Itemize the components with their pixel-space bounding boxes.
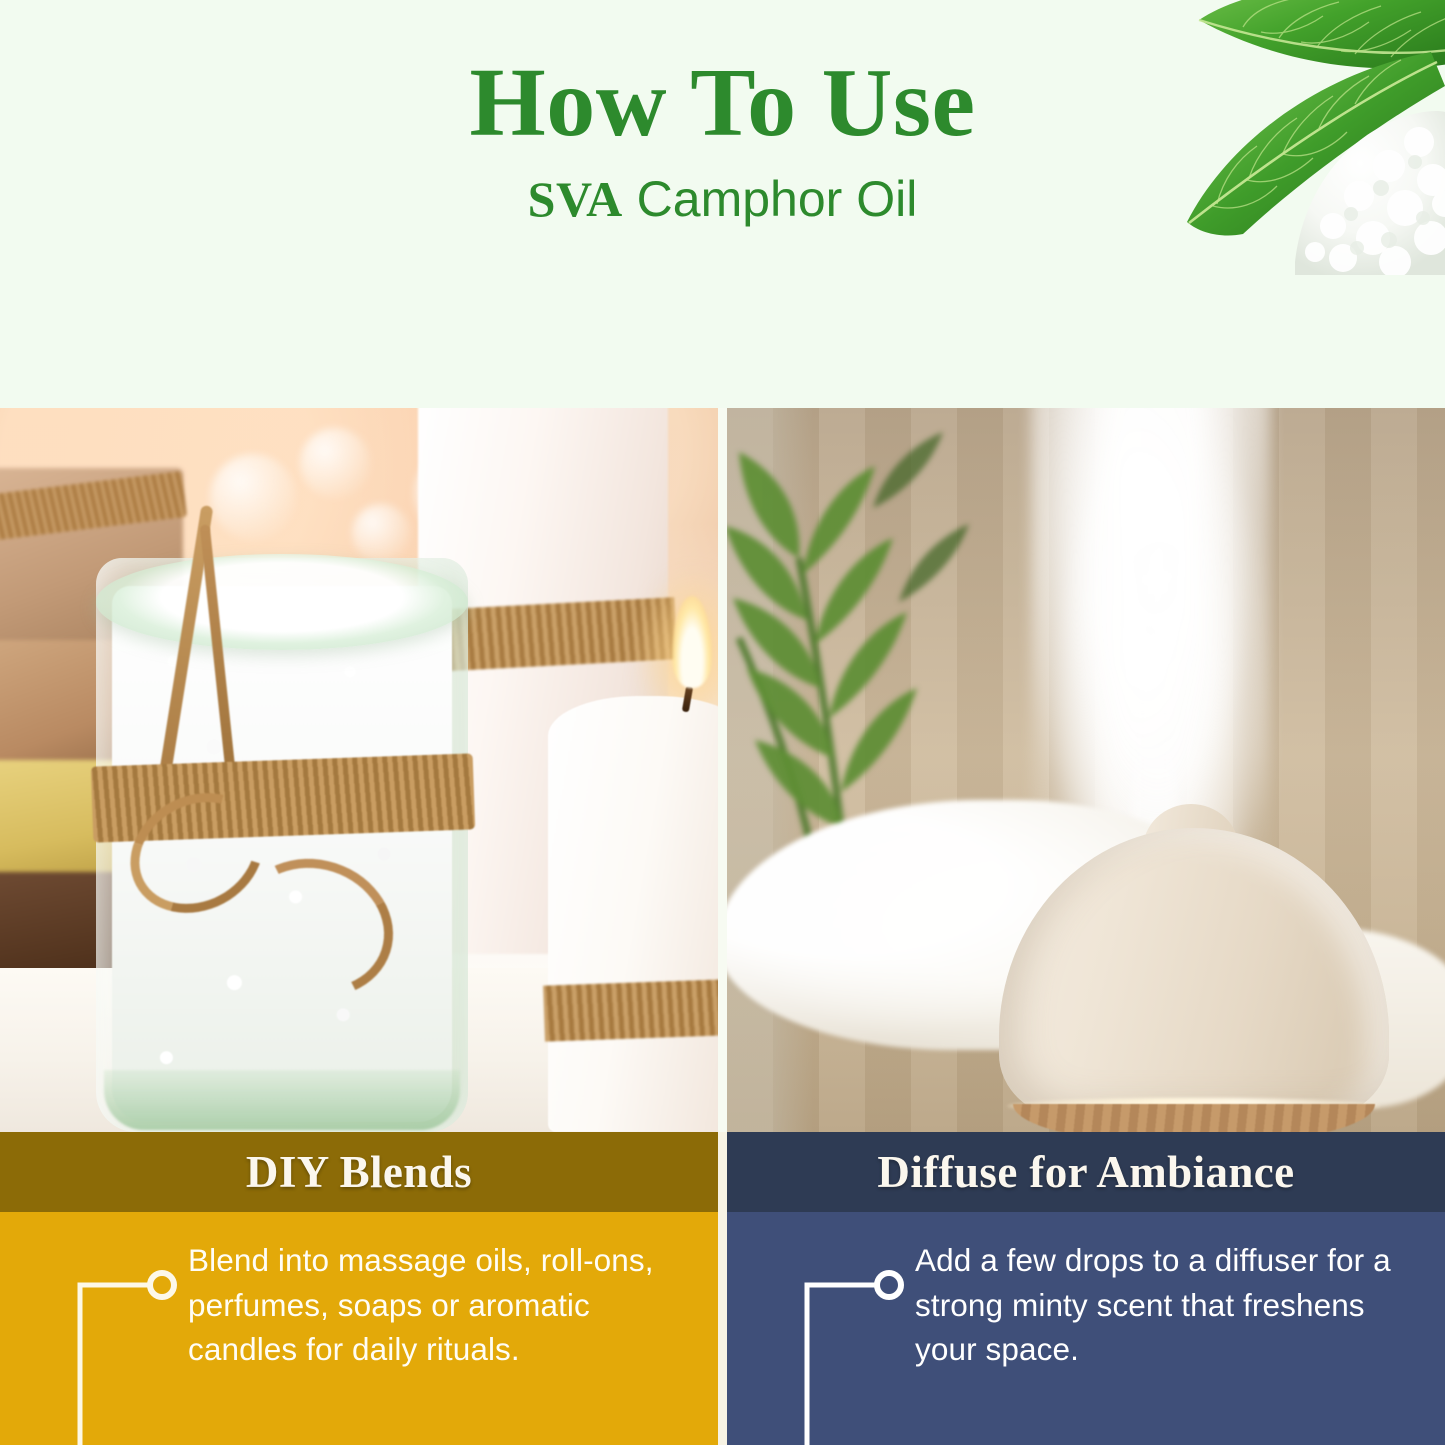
- how-to-use-infographic: How To Use SVA Camphor Oil: [0, 0, 1445, 1445]
- caption-panel-diy-blends: DIY Blends Blend into massage oils, roll…: [0, 1132, 718, 1445]
- photo-diy-blends: [0, 408, 718, 1132]
- candle-twine: [543, 978, 718, 1041]
- panel-description: Add a few drops to a diffuser for a stro…: [915, 1238, 1425, 1372]
- caption-panel-diffuse-ambiance: Diffuse for Ambiance Add a few drops to …: [727, 1132, 1445, 1445]
- diffuser-wood-base: [1013, 1104, 1375, 1132]
- jar-rim: [96, 554, 468, 650]
- photo-row: [0, 408, 1445, 1132]
- bokeh-light: [300, 428, 370, 498]
- panel-label: DIY Blends: [246, 1146, 472, 1198]
- description-area-diffuse-ambiance: Add a few drops to a diffuser for a stro…: [727, 1212, 1445, 1445]
- photo-divider: [718, 408, 727, 1132]
- header-section: How To Use SVA Camphor Oil: [0, 0, 1445, 408]
- caption-row: DIY Blends Blend into massage oils, roll…: [0, 1132, 1445, 1445]
- product-name: Camphor Oil: [637, 171, 918, 227]
- caption-divider: [718, 1132, 727, 1445]
- description-area-diy-blends: Blend into massage oils, roll-ons, perfu…: [0, 1212, 718, 1445]
- photo-diffuse-ambiance: [727, 408, 1445, 1132]
- panel-description: Blend into massage oils, roll-ons, perfu…: [188, 1238, 698, 1372]
- panel-label: Diffuse for Ambiance: [877, 1146, 1294, 1198]
- jar-green-base: [104, 1070, 460, 1130]
- pillar-candle-front: [548, 696, 718, 1132]
- bokeh-light: [210, 454, 296, 540]
- label-bar-diffuse-ambiance: Diffuse for Ambiance: [727, 1132, 1445, 1212]
- camphor-leaf-crystal-art: [1183, 0, 1445, 275]
- bokeh-light: [352, 504, 410, 562]
- label-bar-diy-blends: DIY Blends: [0, 1132, 718, 1212]
- brand-name: SVA: [528, 171, 623, 227]
